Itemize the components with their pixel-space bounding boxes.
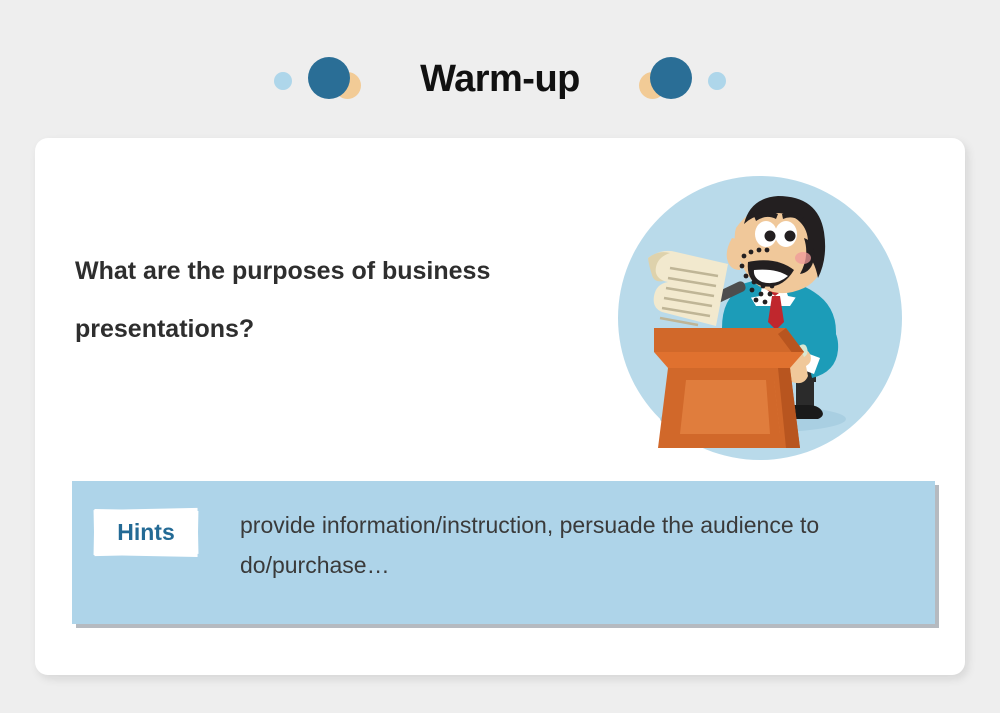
dark-blue-dot-icon xyxy=(650,57,692,99)
light-blue-dot-icon xyxy=(708,72,726,90)
light-blue-dot-icon xyxy=(274,72,292,90)
hints-badge-label: Hints xyxy=(94,509,198,555)
hints-text: provide information/instruction, persuad… xyxy=(240,505,900,585)
page-title: Warm-up xyxy=(398,58,602,101)
businessman-at-podium-illustration xyxy=(618,176,903,461)
decor-dots-left xyxy=(268,48,398,110)
question-text: What are the purposes of business presen… xyxy=(75,242,615,358)
decor-dots-right xyxy=(602,48,732,110)
dark-blue-dot-icon xyxy=(308,57,350,99)
hints-badge: Hints xyxy=(94,509,198,555)
header: Warm-up xyxy=(0,48,1000,110)
hints-panel: Hints provide information/instruction, p… xyxy=(72,481,935,624)
content-card: What are the purposes of business presen… xyxy=(35,138,965,675)
